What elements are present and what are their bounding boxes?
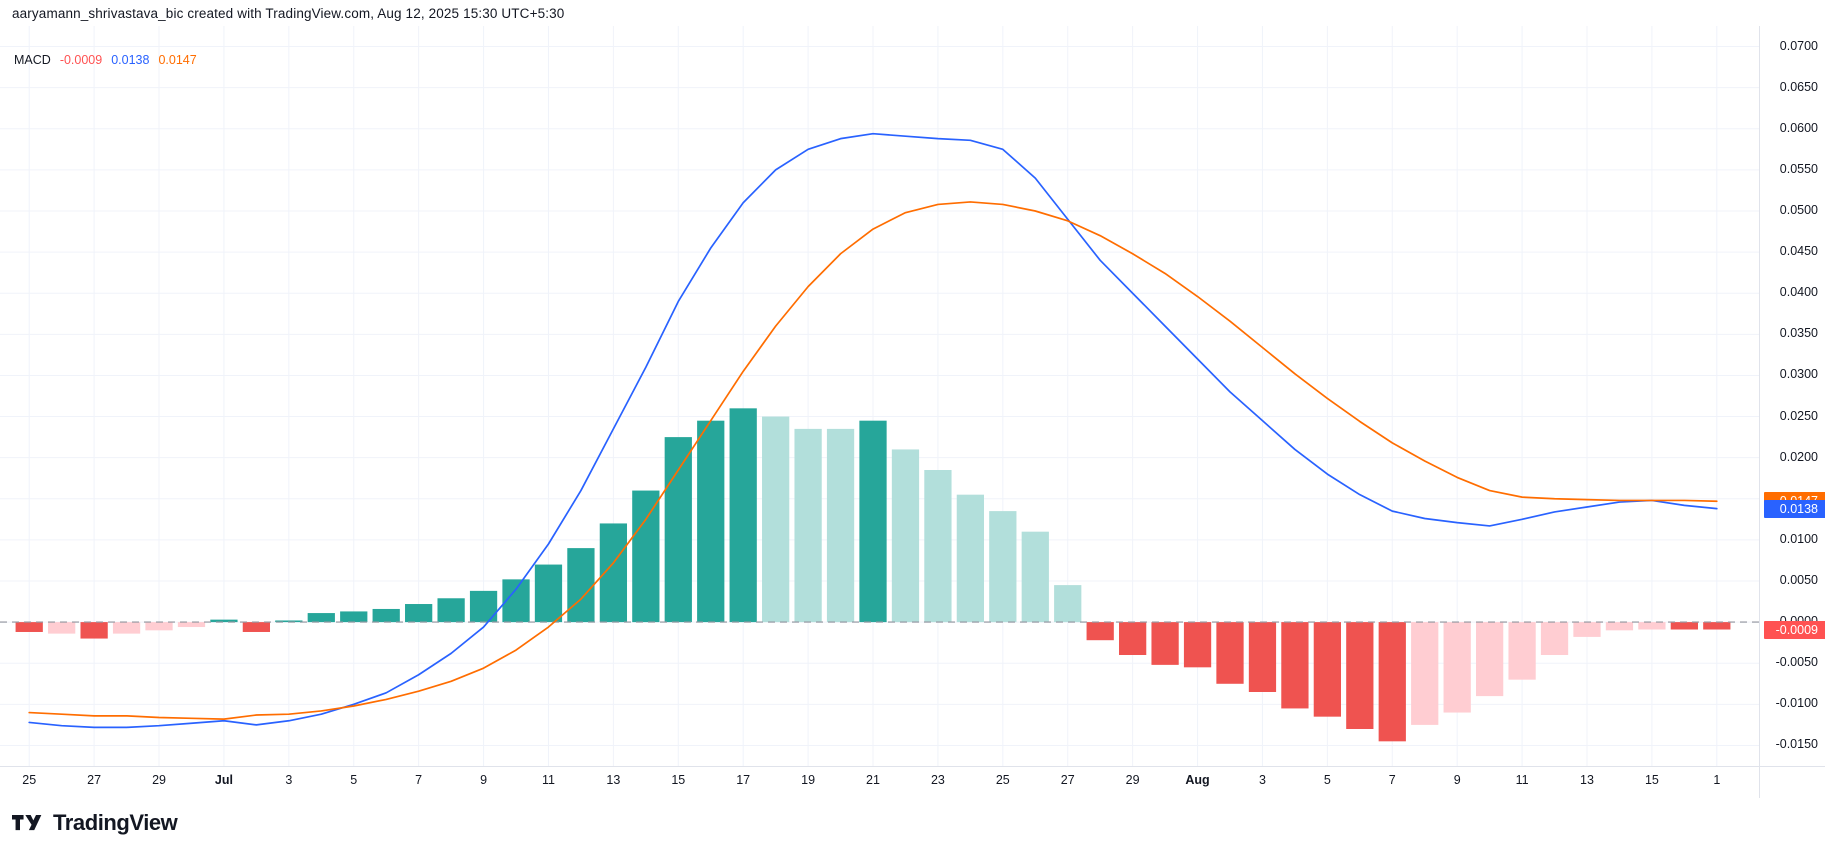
time-tick: 9 bbox=[480, 773, 487, 787]
price-tick: 0.0550 bbox=[1760, 162, 1825, 178]
histogram-price-tag[interactable]: -0.0009 bbox=[1764, 621, 1825, 639]
time-tick: 13 bbox=[1580, 773, 1594, 787]
price-tick: 0.0600 bbox=[1760, 121, 1825, 137]
histogram-bar bbox=[80, 622, 107, 638]
legend-macd-value: 0.0138 bbox=[111, 53, 149, 67]
price-tick: 0.0650 bbox=[1760, 80, 1825, 96]
time-tick: 19 bbox=[801, 773, 815, 787]
time-tick: 11 bbox=[542, 773, 555, 787]
histogram-bar bbox=[535, 565, 562, 623]
time-tick: 9 bbox=[1454, 773, 1461, 787]
histogram-bar bbox=[308, 613, 335, 622]
legend-histogram-value: -0.0009 bbox=[60, 53, 102, 67]
time-tick: Jul bbox=[215, 773, 233, 787]
histogram-bar bbox=[892, 449, 919, 622]
time-tick: 21 bbox=[866, 773, 880, 787]
price-tick: 0.0450 bbox=[1760, 244, 1825, 260]
histogram-bar bbox=[730, 408, 757, 622]
price-tick: 0.0050 bbox=[1760, 573, 1825, 589]
time-tick: 25 bbox=[22, 773, 36, 787]
axis-corner bbox=[1759, 766, 1825, 798]
histogram-bar bbox=[1444, 622, 1471, 712]
histogram-bar bbox=[340, 611, 367, 622]
histogram-bar bbox=[924, 470, 951, 622]
histogram-bar bbox=[697, 421, 724, 622]
histogram-bar bbox=[762, 417, 789, 623]
price-tick: -0.0150 bbox=[1760, 737, 1825, 753]
macd-price-tag[interactable]: 0.0138 bbox=[1764, 500, 1825, 518]
histogram-bar bbox=[1314, 622, 1341, 717]
histogram-bar bbox=[1508, 622, 1535, 680]
histogram-bar bbox=[1087, 622, 1114, 640]
tradingview-logo-icon bbox=[12, 813, 44, 833]
price-tick: 0.0400 bbox=[1760, 285, 1825, 301]
histogram-bar bbox=[1541, 622, 1568, 655]
histogram-bar bbox=[1151, 622, 1178, 665]
histogram-bar bbox=[957, 495, 984, 622]
time-tick: 7 bbox=[415, 773, 422, 787]
price-tick: -0.0050 bbox=[1760, 655, 1825, 671]
time-tick: 27 bbox=[87, 773, 101, 787]
histogram-bar bbox=[373, 609, 400, 622]
histogram-bar bbox=[113, 622, 140, 634]
histogram-bar bbox=[1671, 622, 1698, 629]
time-tick: 13 bbox=[606, 773, 620, 787]
price-tick: 0.0300 bbox=[1760, 367, 1825, 383]
histogram-bar bbox=[1216, 622, 1243, 684]
indicator-legend[interactable]: MACD-0.00090.01380.0147 bbox=[14, 54, 206, 67]
histogram-bar bbox=[1638, 622, 1665, 629]
histogram-bar bbox=[859, 421, 886, 622]
histogram-bar bbox=[1606, 622, 1633, 630]
time-tick: 17 bbox=[736, 773, 750, 787]
histogram-bar bbox=[827, 429, 854, 622]
histogram-bar bbox=[567, 548, 594, 622]
histogram-bar bbox=[243, 622, 270, 632]
histogram-bar bbox=[1119, 622, 1146, 655]
time-tick: Aug bbox=[1185, 773, 1209, 787]
time-tick: 29 bbox=[152, 773, 166, 787]
histogram-bar bbox=[1476, 622, 1503, 696]
time-tick: 5 bbox=[350, 773, 357, 787]
histogram-bar bbox=[16, 622, 43, 632]
histogram-bar bbox=[632, 491, 659, 623]
histogram-bar bbox=[1411, 622, 1438, 725]
histogram-bar bbox=[1184, 622, 1211, 667]
histogram-bar bbox=[437, 598, 464, 622]
legend-title: MACD bbox=[14, 53, 51, 67]
time-tick: 23 bbox=[931, 773, 945, 787]
histogram-bar bbox=[178, 622, 205, 627]
time-tick: 3 bbox=[1259, 773, 1266, 787]
price-tick: 0.0100 bbox=[1760, 532, 1825, 548]
time-tick: 5 bbox=[1324, 773, 1331, 787]
histogram-bar bbox=[470, 591, 497, 622]
time-tick: 1 bbox=[1713, 773, 1720, 787]
footer-bar: TradingView bbox=[0, 798, 1825, 849]
histogram-bar bbox=[794, 429, 821, 622]
price-tick: 0.0350 bbox=[1760, 326, 1825, 342]
histogram-bar bbox=[1703, 622, 1730, 629]
histogram-bar bbox=[1346, 622, 1373, 729]
time-tick: 25 bbox=[996, 773, 1010, 787]
price-tick: -0.0100 bbox=[1760, 696, 1825, 712]
price-tick: 0.0200 bbox=[1760, 450, 1825, 466]
time-tick: 11 bbox=[1516, 773, 1529, 787]
histogram-bar bbox=[989, 511, 1016, 622]
histogram-bar bbox=[1573, 622, 1600, 637]
price-tick: 0.0700 bbox=[1760, 39, 1825, 55]
macd-indicator-pane[interactable]: MACD-0.00090.01380.0147 bbox=[0, 26, 1759, 766]
time-tick: 27 bbox=[1061, 773, 1075, 787]
tradingview-brand-text: TradingView bbox=[53, 810, 177, 836]
histogram-bar bbox=[1054, 585, 1081, 622]
histogram-bar bbox=[665, 437, 692, 622]
price-tick: 0.0500 bbox=[1760, 203, 1825, 219]
histogram-bar bbox=[48, 622, 75, 634]
time-tick: 15 bbox=[1645, 773, 1659, 787]
histogram-bar bbox=[1249, 622, 1276, 692]
time-tick: 29 bbox=[1126, 773, 1140, 787]
tradingview-brand[interactable]: TradingView bbox=[12, 810, 177, 836]
histogram-bar bbox=[1379, 622, 1406, 741]
time-tick: 3 bbox=[285, 773, 292, 787]
histogram-bar bbox=[1281, 622, 1308, 708]
chart-canvas bbox=[0, 26, 1759, 766]
time-tick: 15 bbox=[671, 773, 685, 787]
histogram-bar bbox=[145, 622, 172, 630]
time-tick: 7 bbox=[1389, 773, 1396, 787]
chart-plot-area[interactable] bbox=[0, 26, 1759, 766]
time-axis[interactable]: 252729Jul357911131517192123252729Aug3579… bbox=[0, 766, 1759, 799]
attribution-text: aaryamann_shrivastava_bic created with T… bbox=[12, 6, 564, 21]
histogram-bar bbox=[1022, 532, 1049, 622]
price-axis[interactable]: 0.07000.06500.06000.05500.05000.04500.04… bbox=[1759, 26, 1825, 766]
price-tick: 0.0250 bbox=[1760, 409, 1825, 425]
legend-signal-value: 0.0147 bbox=[158, 53, 196, 67]
histogram-bar bbox=[405, 604, 432, 622]
